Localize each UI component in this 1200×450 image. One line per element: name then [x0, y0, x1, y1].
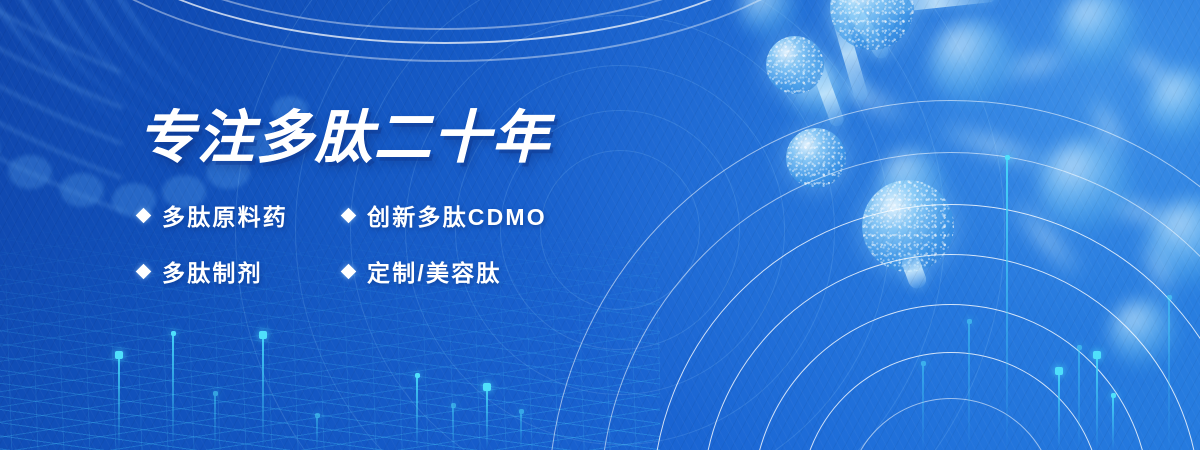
feature-list: 多肽原料药 创新多肽CDMO 多肽制剂 定制/美容肽 [138, 198, 758, 288]
diamond-bullet-icon [136, 208, 152, 224]
data-pin [486, 388, 488, 450]
feature-label: 定制/美容肽 [367, 254, 502, 288]
banner-content: 专注多肽二十年 多肽原料药 创新多肽CDMO 多肽制剂 定制/美容肽 [138, 108, 758, 288]
data-pin [316, 416, 318, 450]
data-pin [1168, 298, 1170, 450]
data-pin [214, 394, 216, 450]
feature-label: 创新多肽CDMO [367, 198, 547, 232]
feature-item-peptide-cdmo[interactable]: 创新多肽CDMO [343, 198, 758, 232]
molecule-bond [1123, 47, 1173, 87]
molecule-sphere [830, 0, 914, 50]
molecule-sphere [862, 180, 954, 272]
data-pin [1078, 348, 1080, 450]
data-pin [520, 412, 522, 450]
molecule-bond [830, 74, 906, 122]
radar-arc [752, 304, 1150, 450]
top-arc [44, 0, 850, 62]
page-title: 专注多肽二十年 [138, 108, 758, 168]
data-pin [1112, 396, 1114, 450]
molecule-sphere [1110, 300, 1176, 366]
molecule-bond [1088, 97, 1128, 156]
molecule-sphere [790, 60, 850, 120]
data-pin [1058, 372, 1060, 450]
data-pin [1096, 356, 1098, 450]
feature-label: 多肽制剂 [162, 254, 263, 288]
feature-item-peptide-api[interactable]: 多肽原料药 [138, 198, 343, 232]
radar-arc [800, 352, 1102, 450]
molecule-sphere [1040, 140, 1132, 232]
radar-arc [702, 254, 1200, 450]
molecule-bond [1141, 240, 1175, 296]
top-arc [92, 0, 792, 30]
molecule-sphere [740, 0, 796, 36]
molecule-bond [831, 0, 892, 61]
molecule-bond [941, 123, 1050, 169]
radar-arc [846, 398, 1056, 450]
data-pin [262, 336, 264, 450]
molecule-bond [999, 49, 1072, 79]
molecule-sphere [930, 20, 1016, 106]
molecule-bond [1107, 197, 1172, 225]
data-pin [118, 356, 120, 450]
data-pin [922, 364, 924, 450]
promotional-banner: 专注多肽二十年 多肽原料药 创新多肽CDMO 多肽制剂 定制/美容肽 [0, 0, 1200, 450]
molecule-bond [829, 4, 869, 102]
molecule-sphere [1150, 200, 1200, 284]
diamond-bullet-icon [341, 208, 357, 224]
diamond-bullet-icon [136, 264, 152, 280]
molecule-sphere [1060, 0, 1138, 68]
feature-item-peptide-formulation[interactable]: 多肽制剂 [138, 254, 343, 288]
molecule-bond [876, 0, 997, 14]
feature-label: 多肽原料药 [162, 198, 288, 232]
data-pin [968, 322, 970, 450]
data-pin [172, 334, 174, 450]
feature-item-custom-cosmetic-peptide[interactable]: 定制/美容肽 [343, 254, 758, 288]
data-pin [416, 376, 418, 450]
data-pin [1006, 158, 1008, 450]
top-arc [70, 0, 820, 44]
molecule-sphere [766, 36, 824, 94]
molecule-bond [808, 58, 845, 129]
molecule-sphere [1148, 70, 1200, 140]
molecule-bond [899, 251, 928, 291]
molecule-bond [1011, 200, 1081, 276]
molecule-sphere [880, 150, 944, 214]
molecule-sphere [786, 128, 846, 188]
diamond-bullet-icon [341, 264, 357, 280]
data-pin [452, 406, 454, 450]
